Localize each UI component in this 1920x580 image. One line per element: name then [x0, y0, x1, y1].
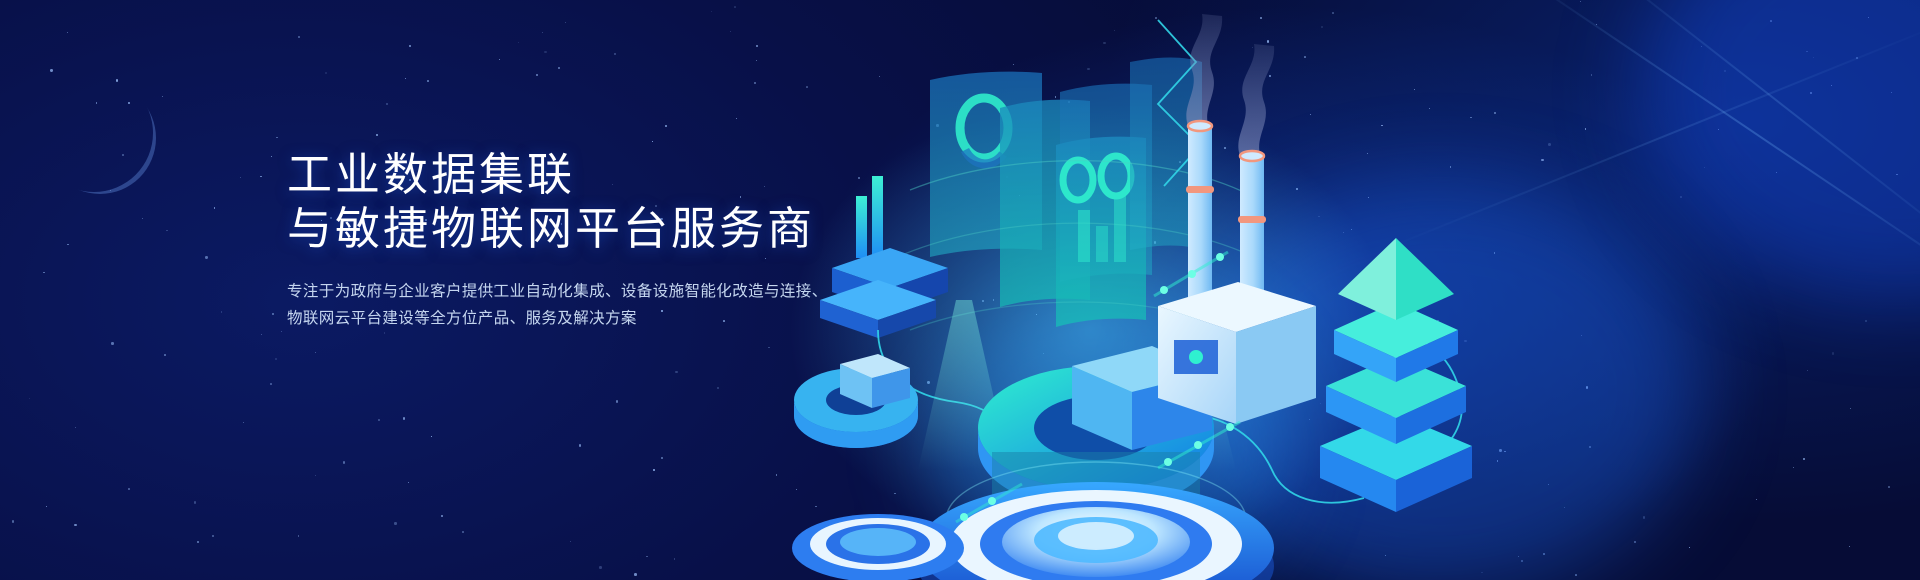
stack-left-body — [1188, 126, 1212, 310]
star-dot — [343, 461, 345, 463]
star-dot — [205, 256, 207, 258]
node-dot-a3 — [1216, 253, 1224, 261]
star-dot — [386, 103, 388, 105]
star-dot — [736, 118, 737, 119]
node-dot-b1 — [1164, 458, 1172, 466]
star-dot — [403, 417, 406, 420]
star-dot — [376, 134, 378, 136]
star-dot — [634, 573, 637, 576]
star-dot — [384, 332, 385, 333]
star-dot — [142, 218, 143, 219]
star-dot — [221, 311, 222, 312]
hero-banner: 工业数据集联 与敏捷物联网平台服务商 专注于为政府与企业客户提供工业自动化集成、… — [0, 0, 1920, 580]
subtitle-line-2: 物联网云平台建设等全方位产品、服务及解决方案 — [287, 305, 828, 332]
headline-line-2: 与敏捷物联网平台服务商 — [287, 202, 828, 256]
star-dot — [111, 342, 113, 344]
star-dot — [214, 207, 216, 209]
stack-right-ring — [1238, 216, 1266, 223]
star-dot — [427, 80, 429, 82]
bar-chart-bar-1 — [856, 196, 867, 258]
node-dot-b3 — [1226, 423, 1234, 431]
star-dot — [579, 444, 582, 447]
screen-bar-b — [1096, 226, 1108, 262]
dome-core-highlight — [1058, 522, 1134, 550]
star-dot — [462, 531, 464, 533]
star-dot — [325, 72, 328, 75]
star-dot — [394, 522, 396, 524]
star-dot — [431, 436, 432, 437]
star-dot — [270, 383, 272, 385]
star-dot — [75, 427, 76, 428]
star-dot — [12, 520, 15, 523]
star-dot — [298, 36, 300, 38]
star-dot — [281, 331, 282, 332]
star-dot — [544, 51, 546, 53]
star-dot — [565, 22, 566, 23]
star-dot — [315, 475, 316, 476]
star-dot — [614, 53, 615, 54]
headline-line-1: 工业数据集联 — [287, 148, 828, 202]
stack-left-mouth — [1188, 121, 1212, 131]
star-dot — [711, 11, 712, 12]
node-dot-c2 — [988, 497, 996, 505]
smoke-plume-right — [1238, 44, 1274, 160]
star-dot — [730, 31, 731, 32]
star-dot — [518, 42, 519, 43]
star-dot — [315, 352, 316, 353]
hero-copy: 工业数据集联 与敏捷物联网平台服务商 专注于为政府与企业客户提供工业自动化集成、… — [287, 148, 828, 332]
crescent-moon-icon — [44, 82, 156, 194]
star-dot — [536, 74, 538, 76]
node-dot-c1 — [960, 513, 968, 521]
star-dot — [674, 558, 675, 559]
star-dot — [499, 59, 500, 60]
small-disc-platform — [792, 514, 964, 580]
star-dot — [197, 541, 200, 544]
star-dot — [212, 535, 214, 537]
star-dot — [194, 501, 196, 503]
subtitle-line-1: 专注于为政府与企业客户提供工业自动化集成、设备设施智能化改造与连接、 — [287, 278, 828, 305]
star-dot — [542, 32, 543, 33]
star-dot — [570, 541, 571, 542]
stack-left-ring — [1186, 186, 1214, 193]
star-dot — [67, 244, 68, 245]
screen-bar-c — [1114, 196, 1126, 262]
star-dot — [276, 137, 277, 138]
industrial-iot-illustration — [760, 0, 1920, 580]
star-dot — [46, 506, 47, 507]
star-dot — [29, 398, 30, 399]
star-dot — [271, 156, 272, 157]
factory-window-dot — [1189, 350, 1203, 364]
pyramid-apex-right — [1396, 238, 1454, 320]
star-dot — [275, 358, 277, 360]
star-dot — [261, 334, 262, 335]
star-dot — [162, 96, 163, 97]
star-dot — [116, 79, 118, 81]
star-dot — [599, 566, 602, 569]
star-dot — [754, 82, 756, 84]
star-dot — [166, 230, 168, 232]
star-dot — [756, 60, 757, 61]
star-dot — [653, 469, 654, 470]
star-dot — [67, 32, 68, 33]
star-dot — [665, 125, 667, 127]
star-dot — [661, 457, 663, 459]
star-dot — [734, 6, 736, 8]
star-dot — [409, 45, 411, 47]
star-dot — [74, 524, 77, 527]
star-dot — [50, 69, 52, 71]
star-dot — [298, 535, 300, 537]
bar-chart-bar-2 — [872, 176, 883, 258]
star-dot — [243, 422, 245, 424]
star-dot — [43, 272, 45, 274]
node-dot-a2 — [1188, 270, 1196, 278]
star-dot — [378, 419, 380, 421]
screen-bar-a — [1078, 210, 1090, 262]
star-dot — [756, 45, 758, 47]
star-dot — [441, 515, 442, 516]
star-dot — [616, 400, 618, 402]
star-dot — [240, 177, 241, 178]
star-dot — [272, 313, 274, 315]
star-dot — [164, 354, 166, 356]
star-dot — [558, 67, 560, 69]
star-dot — [675, 371, 677, 373]
node-dot-b2 — [1194, 441, 1202, 449]
node-dot-a1 — [1160, 286, 1168, 294]
disc-core — [840, 528, 916, 556]
star-dot — [652, 141, 653, 142]
star-dot — [405, 78, 406, 79]
star-dot — [646, 556, 648, 558]
star-dot — [260, 176, 261, 177]
stack-right-mouth — [1240, 151, 1264, 161]
star-dot — [128, 488, 130, 490]
star-dot — [408, 482, 409, 483]
star-dot — [717, 387, 719, 389]
